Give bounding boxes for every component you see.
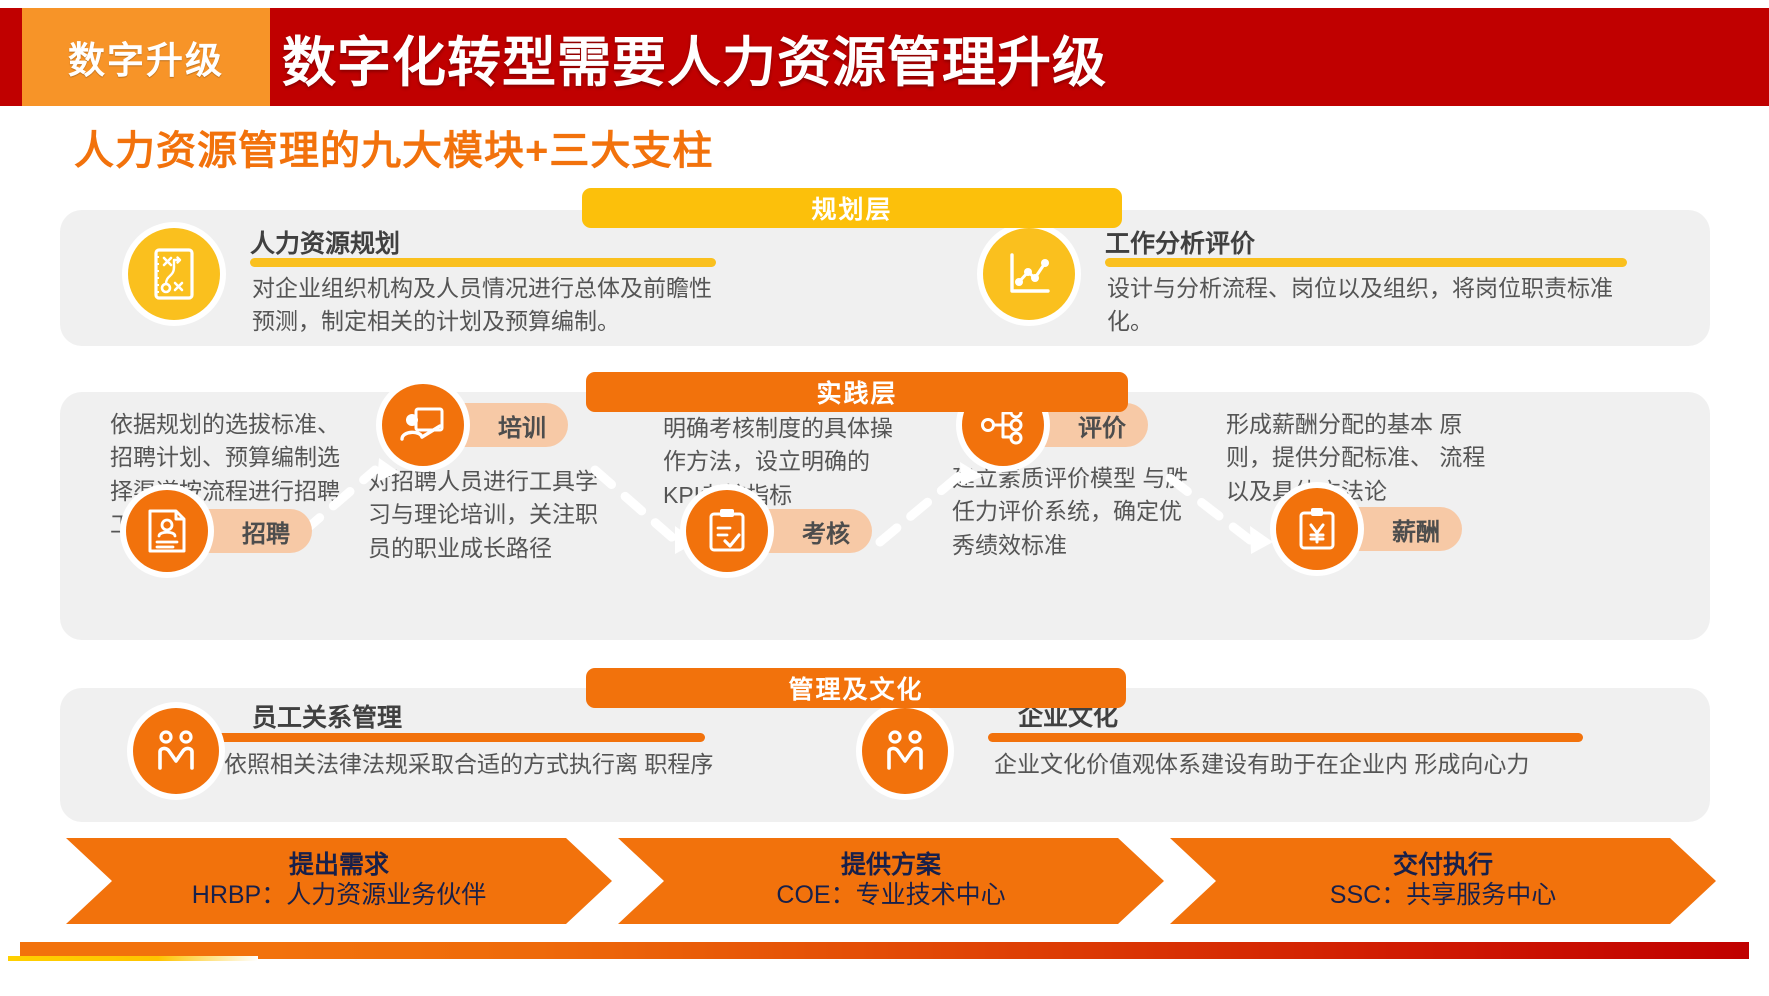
pillar-ssc-title: 交付执行 [1393, 851, 1493, 880]
module-title-job-analysis: 工作分析评价 [1105, 224, 1255, 260]
slide-root: 数字升级 数字化转型需要人力资源管理升级 人力资源管理的九大模块+三大支柱 规划… [0, 0, 1769, 996]
pillar-hrbp-title: 提出需求 [289, 851, 389, 880]
pillar-coe-title: 提供方案 [841, 851, 941, 880]
module-desc-job-analysis: 设计与分析流程、岗位以及组织，将岗位职责标准化。 [1107, 272, 1637, 337]
band-practice: 实践层 [586, 372, 1128, 412]
salary-clipboard-icon [1276, 488, 1358, 570]
pillar-ssc-subtitle: SSC：共享服务中心 [1330, 880, 1556, 911]
band-management-label: 管理及文化 [788, 670, 923, 706]
footer-gradient-bar [20, 942, 1749, 959]
line-chart-icon [983, 228, 1075, 320]
header-bar: 数字升级 数字化转型需要人力资源管理升级 [0, 8, 1769, 106]
pillar-coe[interactable]: 提供方案 COE：专业技术中心 [618, 838, 1164, 924]
module-rule-job-analysis [1105, 258, 1627, 267]
pillar-ssc[interactable]: 交付执行 SSC：共享服务中心 [1170, 838, 1716, 924]
training-whiteboard-icon [382, 384, 464, 466]
header-tag-label: 数字升级 [68, 30, 224, 84]
assessment-checklist-icon [686, 490, 768, 572]
module-title-employee-relations: 员工关系管理 [252, 698, 402, 734]
band-planning-label: 规划层 [811, 190, 892, 226]
module-desc-employee-relations: 依照相关法律法规采取合适的方式执行离 职程序 [224, 748, 734, 781]
people-culture-icon [862, 708, 948, 794]
pill-evaluation-label: 评价 [1078, 408, 1126, 443]
section-subtitle: 人力资源管理的九大模块+三大支柱 [74, 118, 713, 176]
band-planning: 规划层 [582, 188, 1122, 228]
page-title: 数字化转型需要人力资源管理升级 [282, 18, 1107, 97]
footer-accent-line [8, 956, 258, 961]
module-rule-employee-relations [217, 733, 705, 742]
pill-salary-label: 薪酬 [1392, 512, 1440, 547]
pill-training-label: 培训 [498, 408, 546, 443]
module-desc-corporate-culture: 企业文化价值观体系建设有助于在企业内 形成向心力 [994, 748, 1594, 781]
recruitment-resume-icon [126, 490, 208, 572]
pillar-hrbp-subtitle: HRBP：人力资源业务伙伴 [192, 880, 486, 911]
band-practice-label: 实践层 [816, 374, 897, 410]
module-title-hr-planning: 人力资源规划 [250, 224, 400, 260]
header-title-wrap: 数字化转型需要人力资源管理升级 [282, 8, 1107, 106]
band-management: 管理及文化 [586, 668, 1126, 708]
header-tag-badge: 数字升级 [22, 8, 270, 106]
pill-recruit-label: 招聘 [242, 514, 290, 549]
people-relations-icon [133, 708, 219, 794]
module-desc-hr-planning: 对企业组织机构及人员情况进行总体及前瞻性预测，制定相关的计划及预算编制。 [252, 272, 722, 337]
module-rule-corporate-culture [988, 733, 1583, 742]
module-rule-hr-planning [250, 258, 716, 267]
pillar-coe-subtitle: COE：专业技术中心 [776, 880, 1005, 911]
pill-assessment-label: 考核 [802, 514, 850, 549]
planning-matrix-icon [128, 228, 220, 320]
pillar-hrbp[interactable]: 提出需求 HRBP：人力资源业务伙伴 [66, 838, 612, 924]
